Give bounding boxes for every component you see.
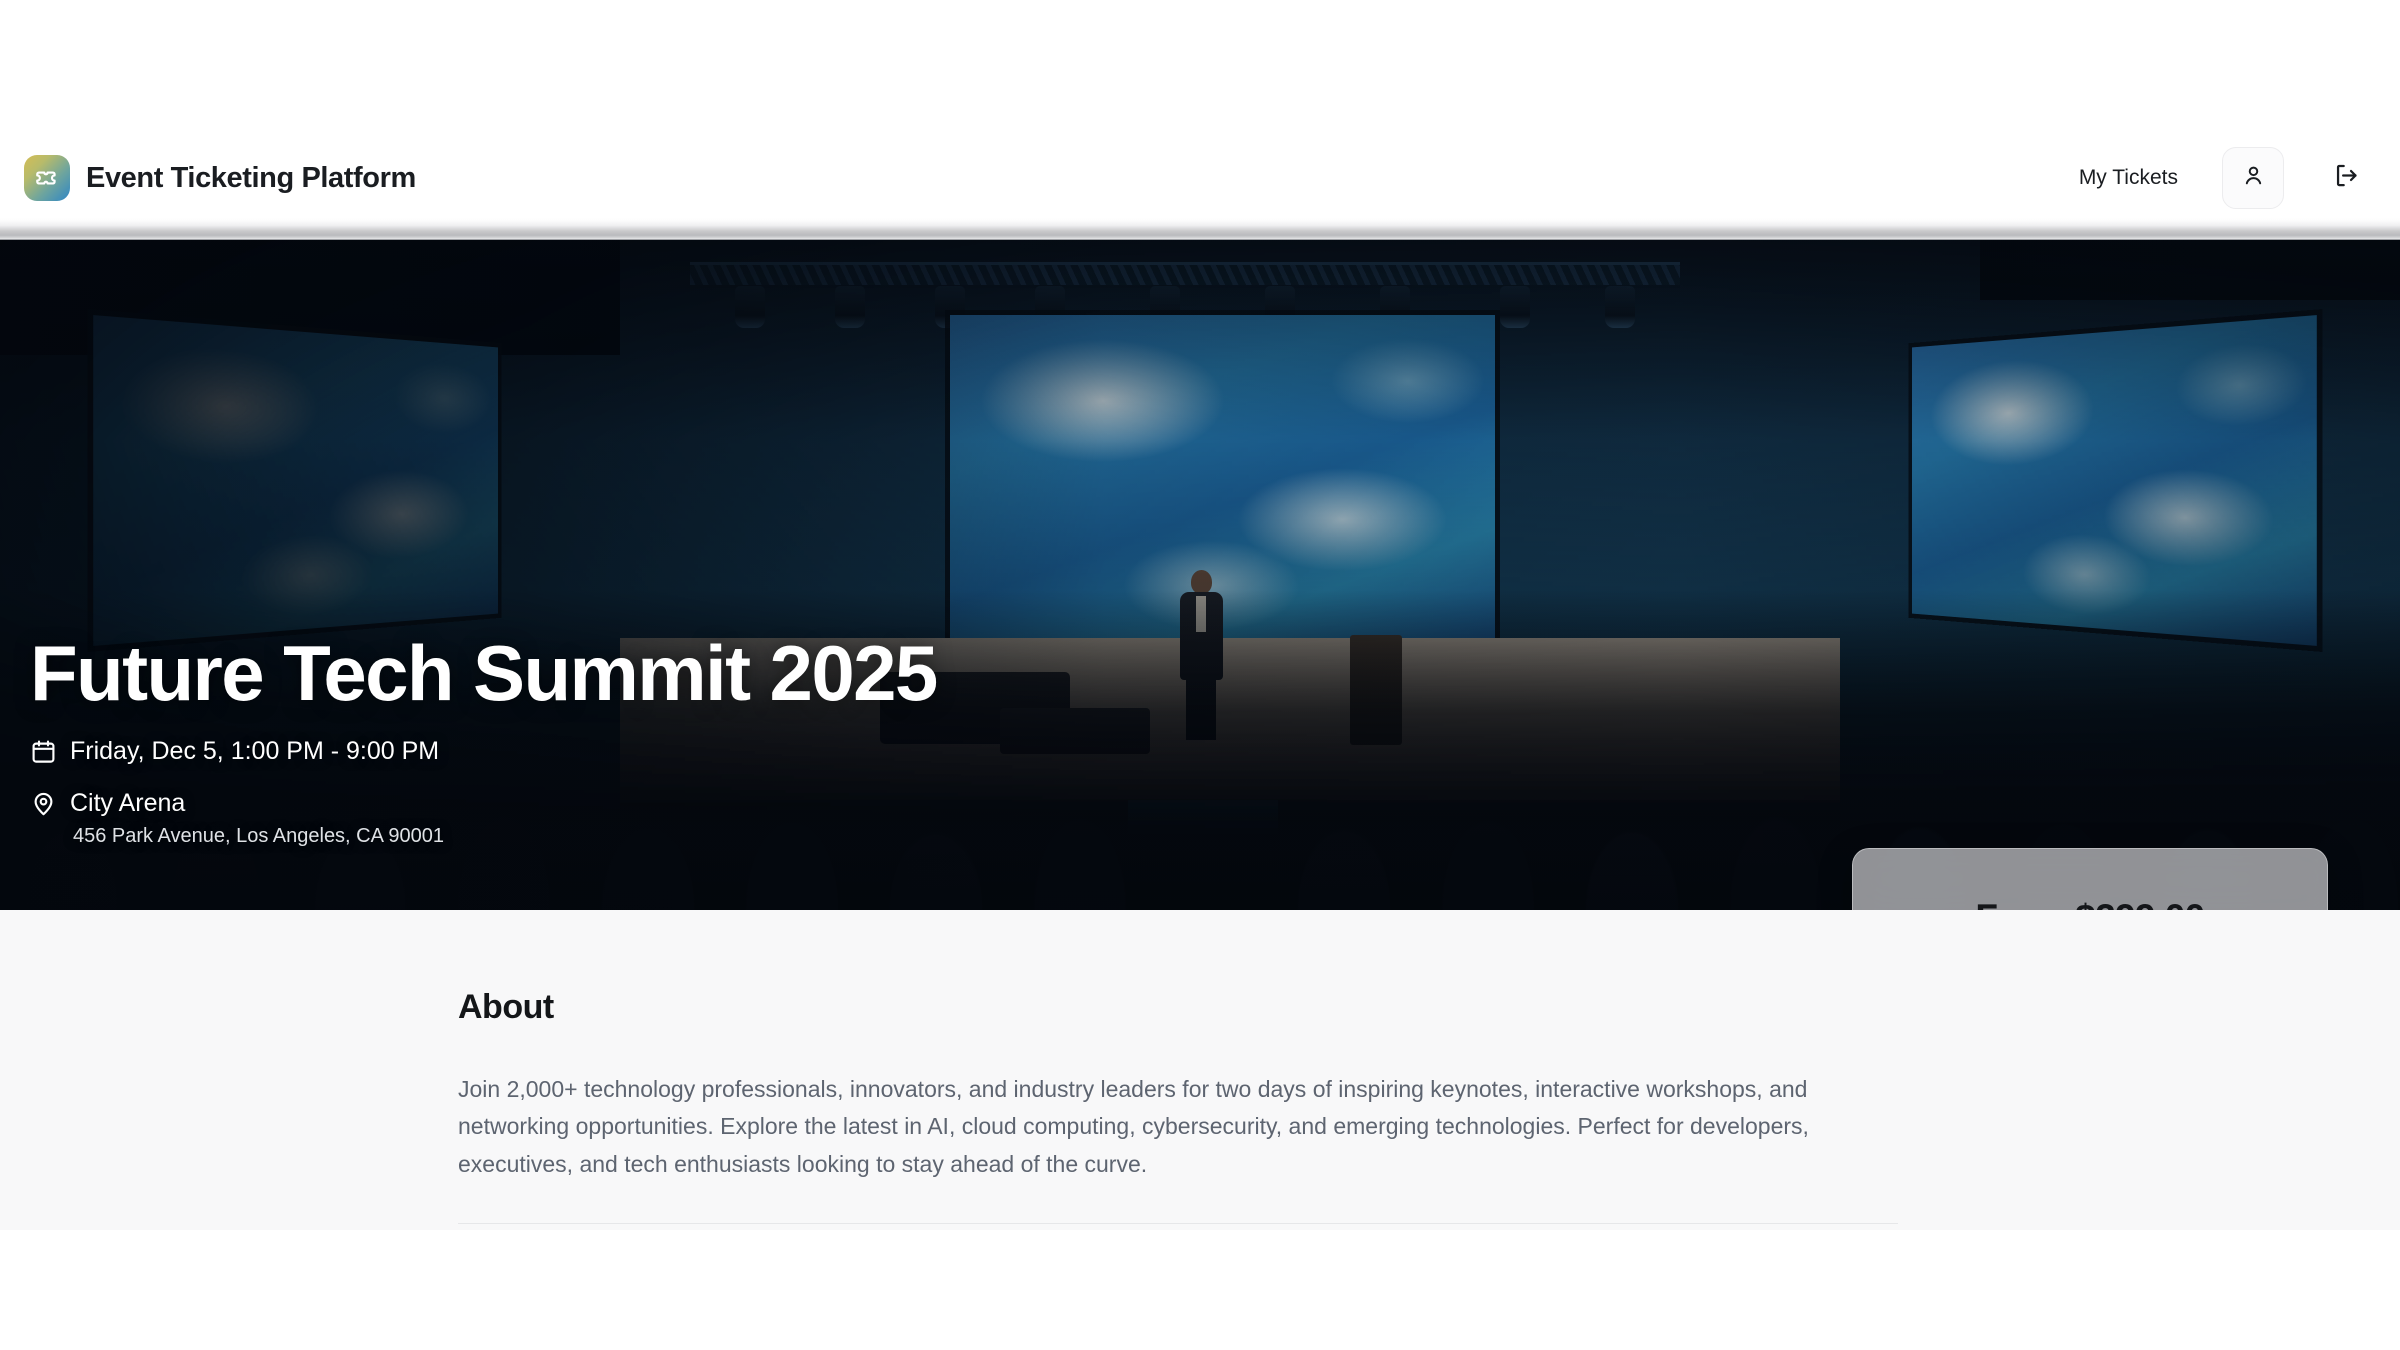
about-body: Join 2,000+ technology professionals, in… bbox=[458, 1071, 1898, 1183]
event-hero: Future Tech Summit 2025 Friday, Dec 5, 1… bbox=[0, 240, 2400, 910]
header-actions: My Tickets bbox=[2079, 147, 2374, 209]
ticket-logo-icon bbox=[24, 155, 70, 201]
logout-button[interactable] bbox=[2318, 150, 2374, 206]
map-pin-icon bbox=[30, 790, 57, 817]
logout-icon bbox=[2333, 162, 2360, 194]
event-venue-name: City Arena bbox=[70, 789, 185, 818]
section-divider bbox=[458, 1223, 1898, 1224]
top-white-strip bbox=[0, 0, 2400, 138]
event-venue-address: 456 Park Avenue, Los Angeles, CA 90001 bbox=[73, 825, 937, 848]
about-section: About Join 2,000+ technology professiona… bbox=[0, 910, 2400, 1230]
event-title: Future Tech Summit 2025 bbox=[30, 633, 937, 714]
user-icon bbox=[2241, 163, 2266, 193]
profile-button[interactable] bbox=[2222, 147, 2284, 209]
page-bottom-space bbox=[0, 1230, 2400, 1320]
hero-text-block: Future Tech Summit 2025 Friday, Dec 5, 1… bbox=[30, 633, 937, 848]
calendar-icon bbox=[30, 738, 57, 765]
price-label: From $299.00 bbox=[1975, 897, 2204, 910]
brand-title: Event Ticketing Platform bbox=[86, 162, 416, 195]
header-divider bbox=[0, 218, 2400, 240]
app-header: Event Ticketing Platform My Tickets bbox=[0, 138, 2400, 218]
ticket-price-card: From $299.00 Get Tickets bbox=[1852, 848, 2328, 910]
event-venue-row: City Arena bbox=[30, 789, 937, 818]
event-date-row: Friday, Dec 5, 1:00 PM - 9:00 PM bbox=[30, 737, 937, 766]
about-heading: About bbox=[458, 988, 1898, 1027]
header-brand[interactable]: Event Ticketing Platform bbox=[24, 155, 416, 201]
nav-my-tickets[interactable]: My Tickets bbox=[2079, 166, 2178, 190]
event-date-text: Friday, Dec 5, 1:00 PM - 9:00 PM bbox=[70, 737, 439, 766]
